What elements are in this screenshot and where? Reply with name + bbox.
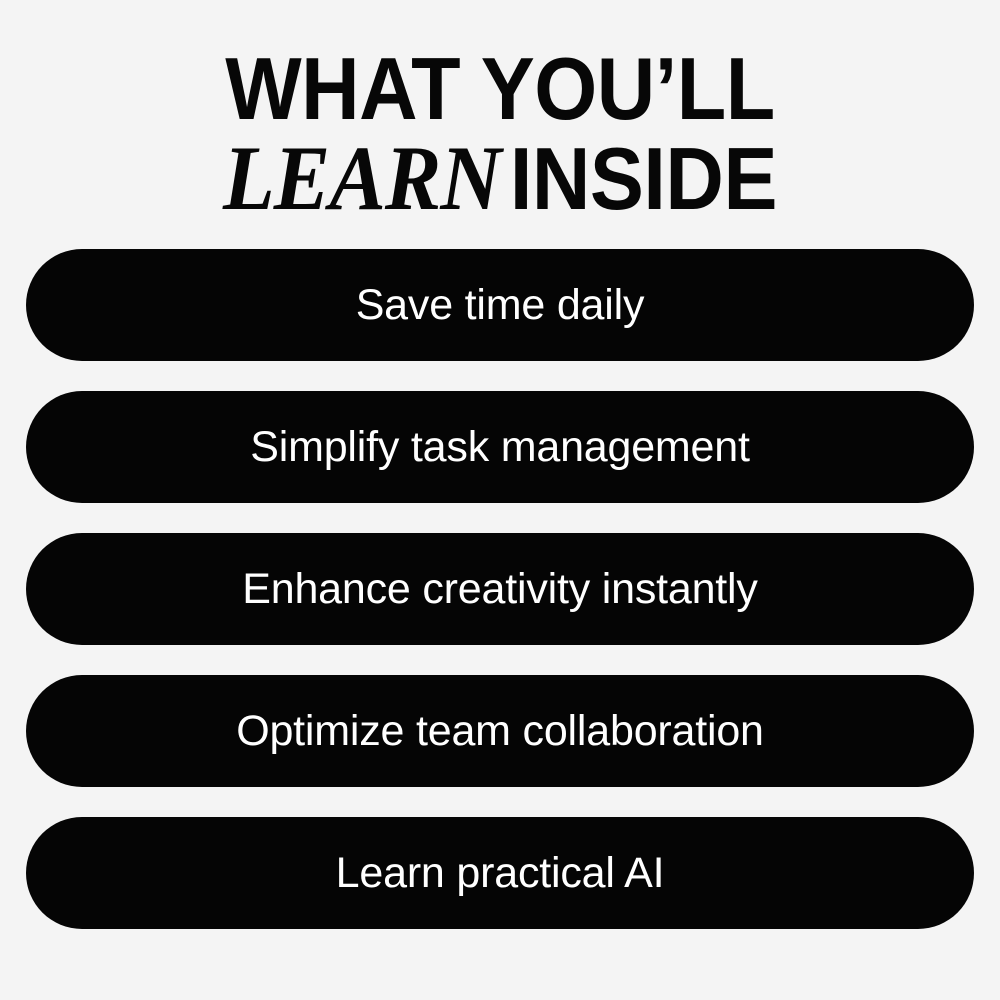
benefit-pill-1[interactable]: Save time daily: [26, 249, 974, 361]
page-title: WHAT YOU’LL LEARNINSIDE: [0, 0, 1000, 225]
title-line-2-rest: INSIDE: [510, 129, 777, 228]
benefit-label: Enhance creativity instantly: [242, 568, 757, 611]
benefit-pill-3[interactable]: Enhance creativity instantly: [26, 533, 974, 645]
title-line-1: WHAT YOU’LL: [40, 46, 960, 132]
benefit-label: Optimize team collaboration: [236, 710, 764, 753]
title-emphasis-word: LEARN: [223, 127, 510, 229]
benefits-list: Save time daily Simplify task management…: [0, 249, 1000, 929]
poster-canvas: WHAT YOU’LL LEARNINSIDE Save time daily …: [0, 0, 1000, 1000]
benefit-pill-5[interactable]: Learn practical AI: [26, 817, 974, 929]
benefit-label: Learn practical AI: [336, 852, 665, 895]
benefit-pill-4[interactable]: Optimize team collaboration: [26, 675, 974, 787]
benefit-label: Simplify task management: [250, 426, 749, 469]
title-line-2: LEARNINSIDE: [40, 132, 960, 225]
benefit-label: Save time daily: [356, 284, 645, 327]
benefit-pill-2[interactable]: Simplify task management: [26, 391, 974, 503]
